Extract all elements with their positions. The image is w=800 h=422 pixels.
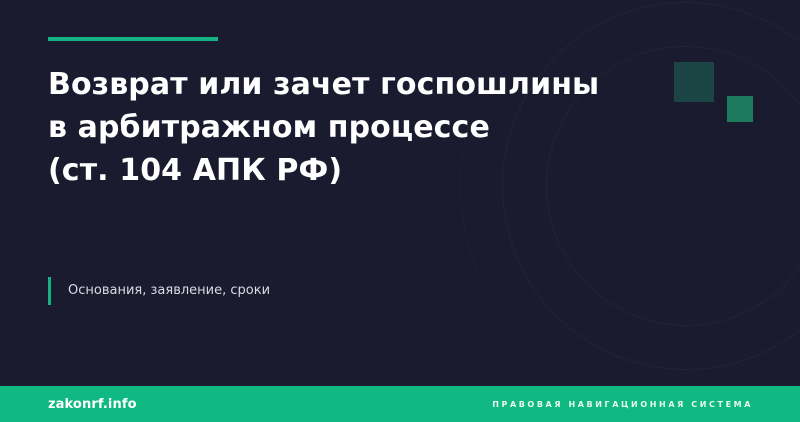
page-title: Возврат или зачет госпошлины в арбитражн… (48, 63, 648, 192)
subtitle: Основания, заявление, сроки (48, 277, 270, 305)
decorative-square-small (727, 96, 753, 122)
footer-brand: zakonrf.info (48, 397, 137, 412)
accent-rule (48, 37, 218, 41)
page-title-line-1: Возврат или зачет госпошлины (48, 63, 648, 106)
footer-tagline: ПРАВОВАЯ НАВИГАЦИОННАЯ СИСТЕМА (492, 400, 753, 409)
footer-bar: zakonrf.info ПРАВОВАЯ НАВИГАЦИОННАЯ СИСТ… (0, 386, 800, 422)
title-slide: Возврат или зачет госпошлины в арбитражн… (0, 0, 800, 422)
background-circle-faint (460, 0, 800, 412)
subtitle-accent-bar (48, 277, 51, 305)
page-title-line-3: (ст. 104 АПК РФ) (48, 149, 648, 192)
subtitle-text: Основания, заявление, сроки (68, 277, 270, 305)
decorative-square-large (674, 62, 714, 102)
page-title-line-2: в арбитражном процессе (48, 106, 648, 149)
